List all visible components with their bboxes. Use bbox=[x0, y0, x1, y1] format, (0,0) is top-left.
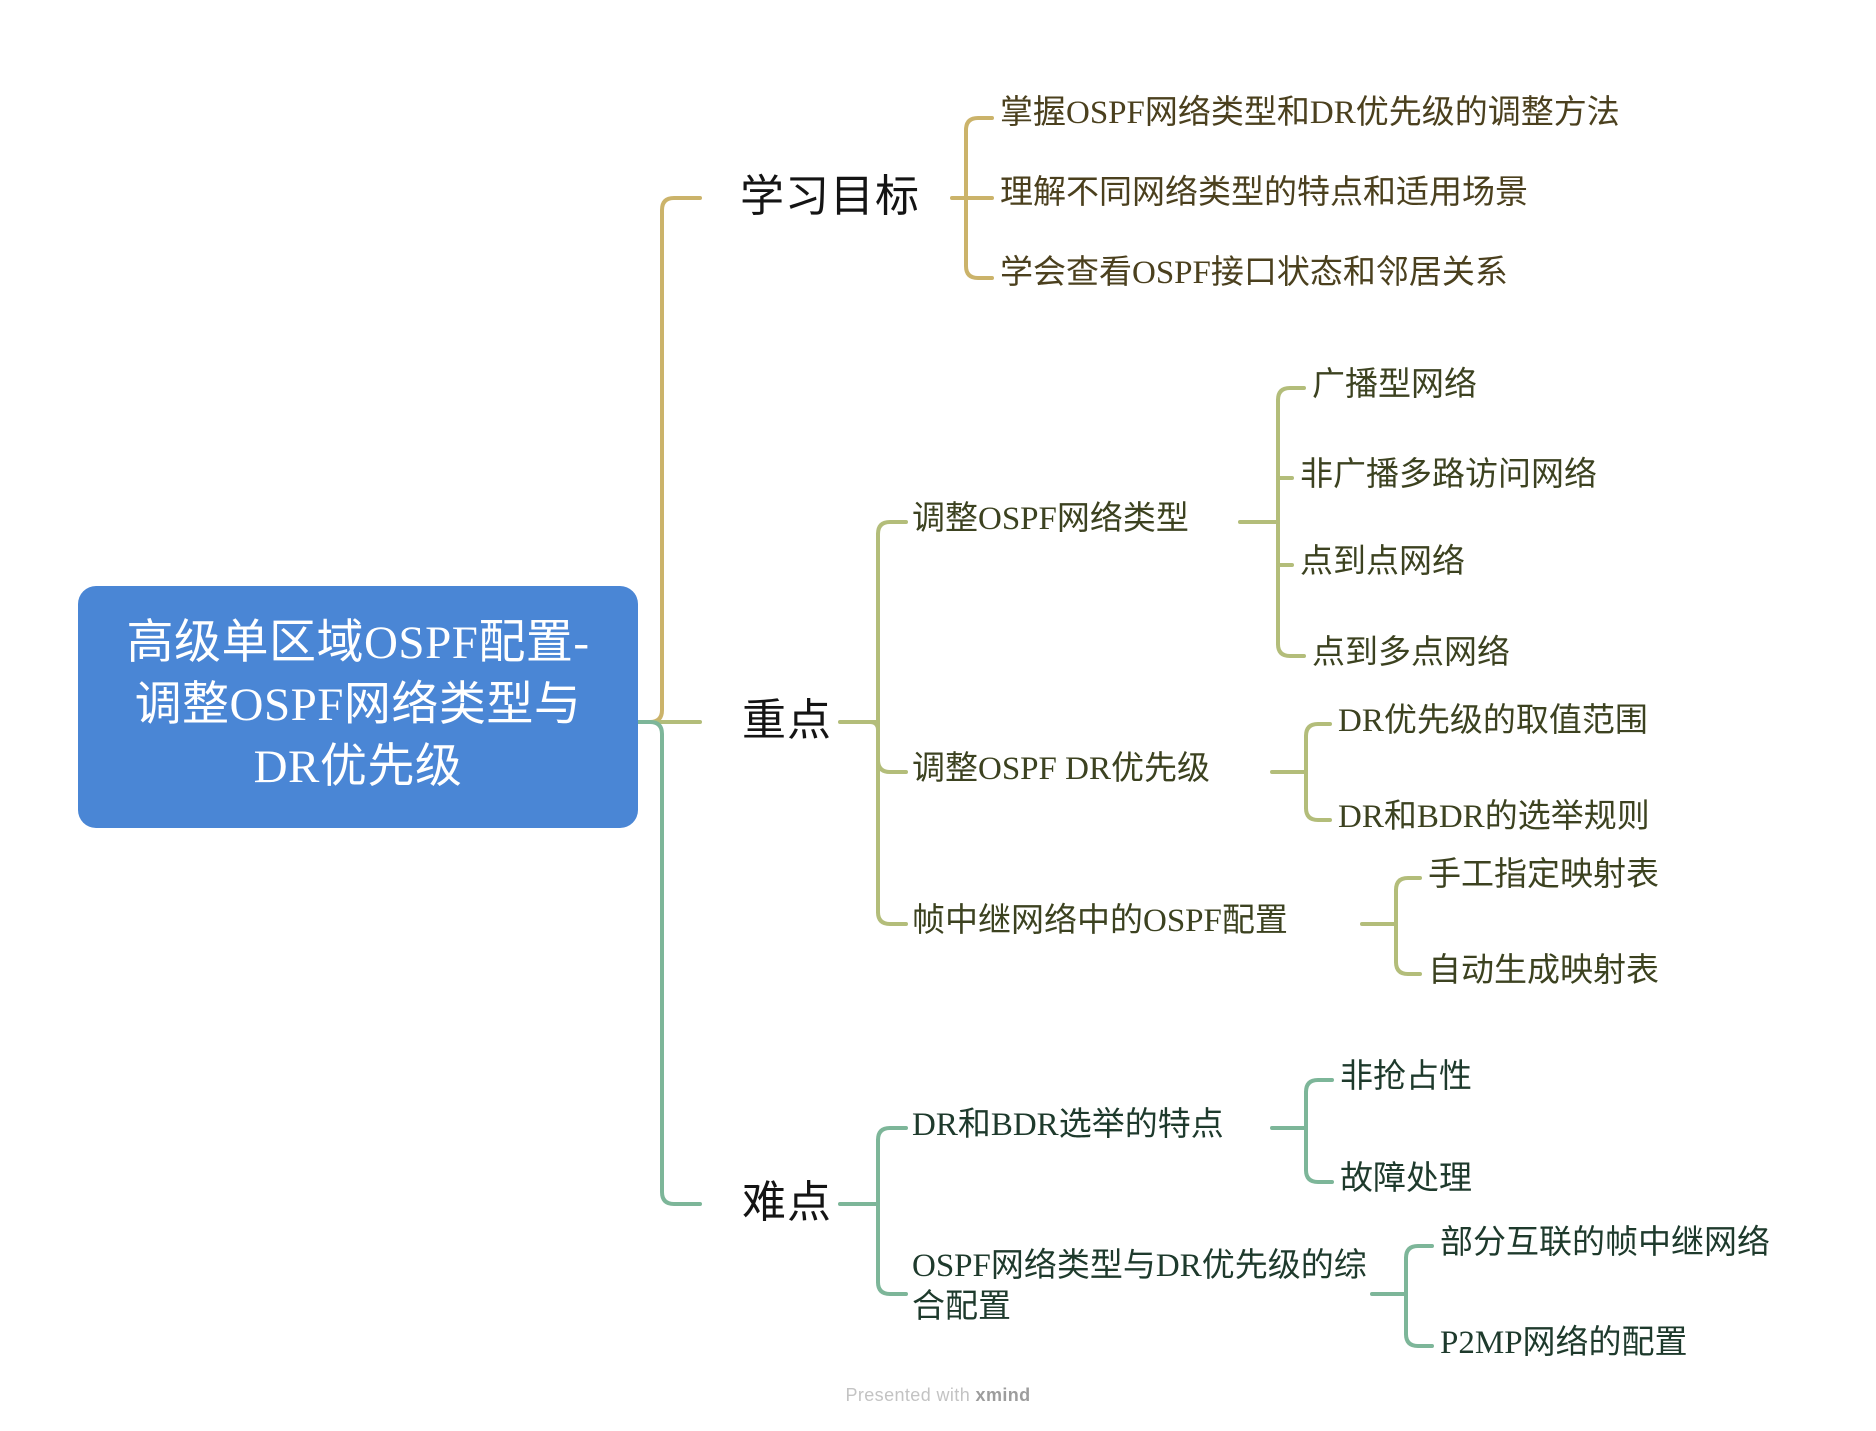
branch-label-difficult-points[interactable]: 难点 bbox=[742, 1174, 832, 1231]
leaf-dr-priority-1[interactable]: DR优先级的取值范围 bbox=[1338, 700, 1648, 743]
wire-kp-sub-1 bbox=[878, 522, 906, 722]
wire-dp-sub-2 bbox=[878, 1282, 906, 1294]
subtopic-frame-relay-ospf-config[interactable]: 帧中继网络中的OSPF配置 bbox=[912, 900, 1288, 943]
leaf-dr-priority-2[interactable]: DR和BDR的选举规则 bbox=[1338, 796, 1650, 839]
wire-lo-leaf-3 bbox=[966, 198, 992, 278]
watermark-brand: xmind bbox=[976, 1385, 1031, 1405]
leaf-combined-2[interactable]: P2MP网络的配置 bbox=[1440, 1322, 1688, 1365]
root-topic[interactable]: 高级单区域OSPF配置-调整OSPF网络类型与DR优先级 bbox=[78, 586, 638, 828]
wire-nettype-leaf-1 bbox=[1278, 388, 1304, 400]
wire-combined-leaf-2 bbox=[1406, 1334, 1432, 1346]
wire-kp-sub-3 bbox=[878, 722, 906, 924]
wire-fr-leaf-1 bbox=[1396, 878, 1420, 890]
wire-nettype-leaf-4 bbox=[1278, 644, 1304, 656]
leaf-learning-objectives-3[interactable]: 学会查看OSPF接口状态和邻居关系 bbox=[1000, 252, 1508, 295]
leaf-network-type-4[interactable]: 点到多点网络 bbox=[1312, 632, 1510, 675]
leaf-combined-1[interactable]: 部分互联的帧中继网络 bbox=[1440, 1222, 1770, 1265]
leaf-learning-objectives-1[interactable]: 掌握OSPF网络类型和DR优先级的调整方法 bbox=[1000, 92, 1620, 135]
mindmap-canvas: 高级单区域OSPF配置-调整OSPF网络类型与DR优先级 学习目标 掌握OSPF… bbox=[0, 0, 1876, 1431]
leaf-dr-bdr-2[interactable]: 故障处理 bbox=[1340, 1158, 1472, 1201]
branch-label-learning-objectives[interactable]: 学习目标 bbox=[740, 168, 920, 225]
leaf-network-type-3[interactable]: 点到点网络 bbox=[1300, 541, 1465, 584]
wire-drbdr-leaf-2 bbox=[1306, 1170, 1332, 1182]
wire-dp-sub-1 bbox=[878, 1128, 906, 1140]
leaf-network-type-1[interactable]: 广播型网络 bbox=[1312, 364, 1477, 407]
watermark-prefix: Presented with bbox=[845, 1385, 975, 1405]
wire-combined-leaf-1 bbox=[1406, 1246, 1432, 1258]
wire-root-to-learning-objectives bbox=[638, 198, 700, 722]
leaf-network-type-2[interactable]: 非广播多路访问网络 bbox=[1300, 454, 1597, 497]
wire-drbdr-leaf-1 bbox=[1306, 1080, 1332, 1092]
watermark: Presented with xmind bbox=[0, 1385, 1876, 1406]
wire-kp-sub-2 bbox=[858, 722, 906, 772]
wire-drprio-leaf-2 bbox=[1306, 808, 1330, 820]
subtopic-adjust-ospf-dr-priority[interactable]: 调整OSPF DR优先级 bbox=[912, 748, 1210, 791]
wire-root-to-difficult-points bbox=[638, 722, 700, 1204]
wire-fr-leaf-2 bbox=[1396, 962, 1420, 974]
subtopic-adjust-ospf-network-type[interactable]: 调整OSPF网络类型 bbox=[912, 498, 1189, 541]
subtopic-dr-bdr-election-features[interactable]: DR和BDR选举的特点 bbox=[912, 1104, 1224, 1147]
leaf-learning-objectives-2[interactable]: 理解不同网络类型的特点和适用场景 bbox=[1000, 172, 1528, 215]
subtopic-combined-config[interactable]: OSPF网络类型与DR优先级的综合配置 bbox=[912, 1246, 1382, 1328]
branch-label-key-points[interactable]: 重点 bbox=[742, 692, 832, 749]
leaf-dr-bdr-1[interactable]: 非抢占性 bbox=[1340, 1056, 1472, 1099]
leaf-frame-relay-2[interactable]: 自动生成映射表 bbox=[1428, 950, 1659, 993]
wire-lo-leaf-1 bbox=[966, 118, 992, 198]
leaf-frame-relay-1[interactable]: 手工指定映射表 bbox=[1428, 854, 1659, 897]
wire-drprio-leaf-1 bbox=[1306, 724, 1330, 736]
